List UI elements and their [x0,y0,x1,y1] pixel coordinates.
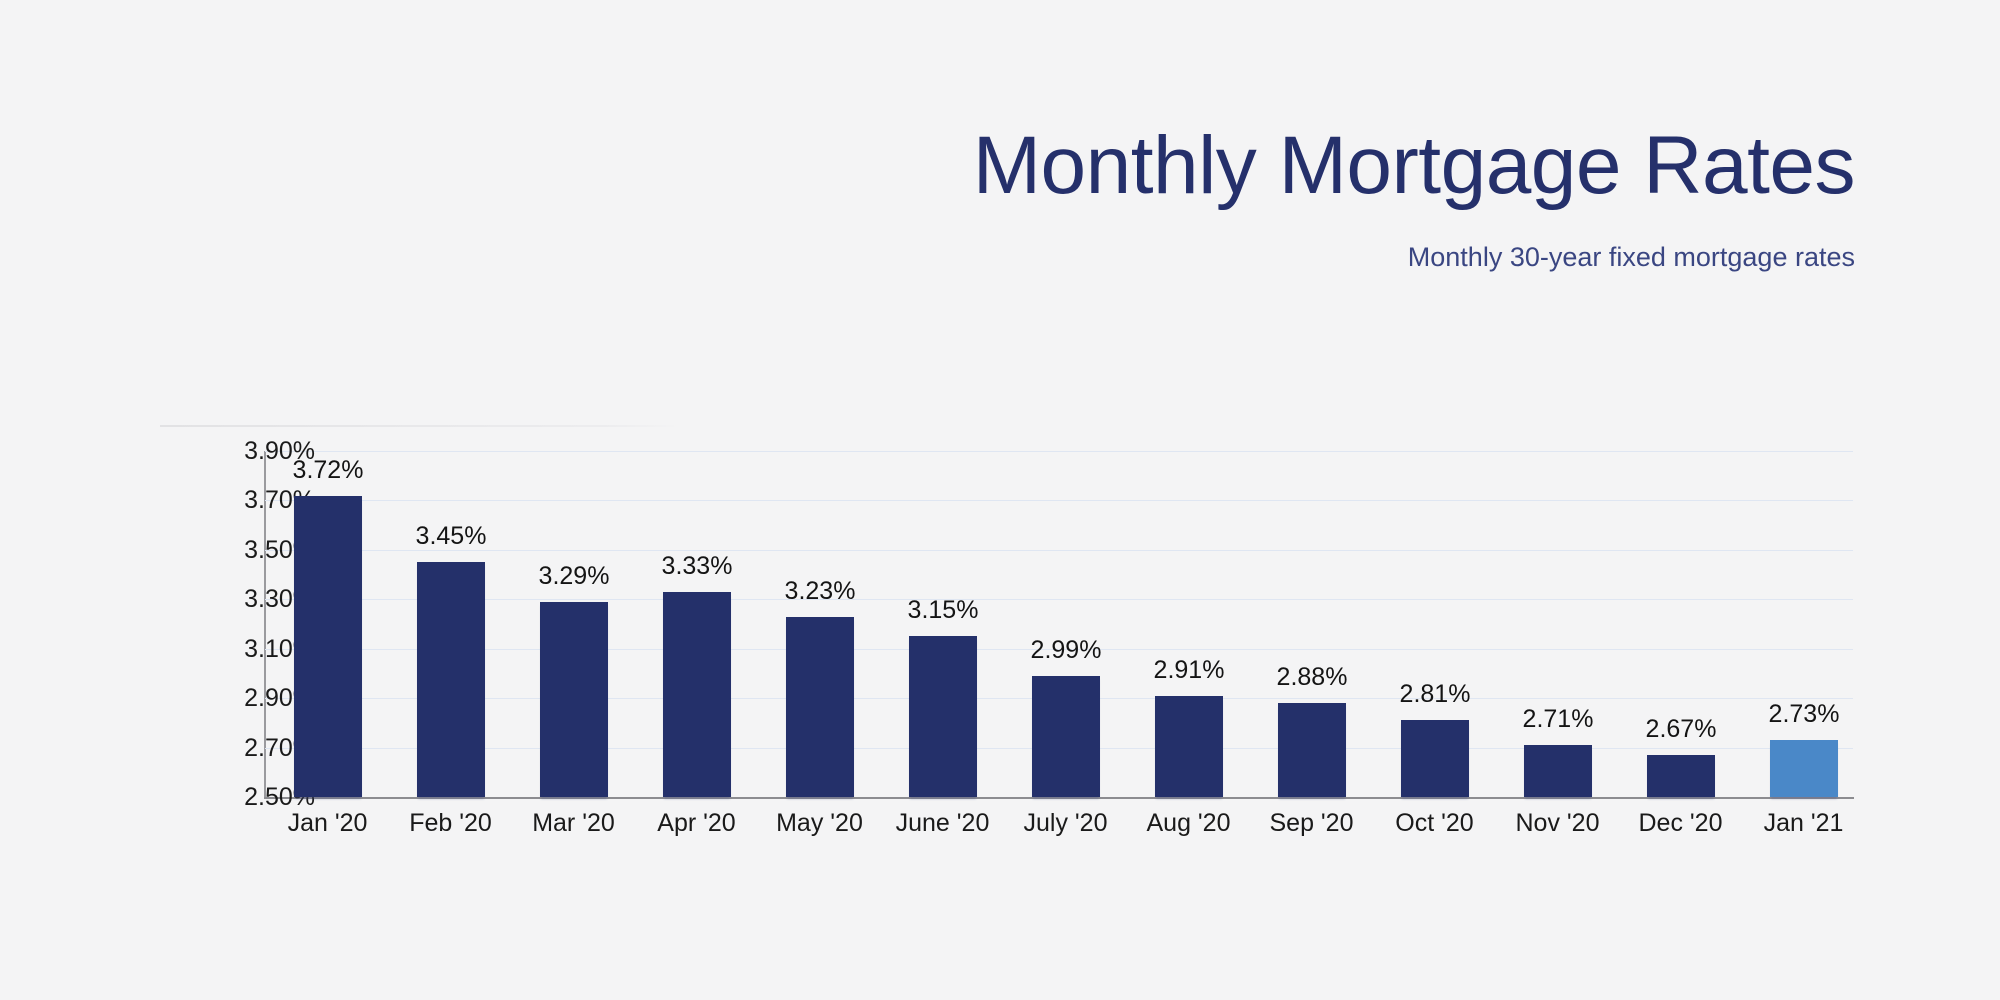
x-axis-tick-label: June '20 [881,808,1004,838]
bar[interactable]: 3.23% [786,617,854,797]
bar[interactable]: 3.33% [663,592,731,797]
page-title: Monthly Mortgage Rates [0,118,1855,214]
bar[interactable]: 2.73% [1770,740,1838,797]
x-axis-tick-label: Jan '20 [266,808,389,838]
bar-slot: 3.29% [512,451,635,797]
bar-value-label: 3.45% [390,524,512,549]
bar-slot: 3.15% [881,451,1004,797]
x-axis-tick-label: Mar '20 [512,808,635,838]
x-axis-tick-label: May '20 [758,808,881,838]
bar-slot: 2.88% [1250,451,1373,797]
bar-slot: 2.67% [1619,451,1742,797]
bar[interactable]: 3.29% [540,602,608,797]
bar-value-label: 3.72% [267,458,389,483]
bar-value-label: 2.88% [1251,665,1373,690]
x-axis-tick-label: Oct '20 [1373,808,1496,838]
bar-slot: 3.33% [635,451,758,797]
x-axis-tick-label: Nov '20 [1496,808,1619,838]
bar[interactable]: 3.45% [417,562,485,797]
bar[interactable]: 2.88% [1278,703,1346,797]
bar-slot: 2.91% [1127,451,1250,797]
bar-slot: 2.99% [1004,451,1127,797]
x-axis-tick-label: Apr '20 [635,808,758,838]
chart-canvas: Monthly Mortgage Rates Monthly 30-year f… [0,0,2000,1000]
bar-value-label: 2.99% [1005,638,1127,663]
x-axis-tick-label: Feb '20 [389,808,512,838]
bar-value-label: 2.81% [1374,682,1496,707]
bar[interactable]: 2.67% [1647,755,1715,797]
bar-value-label: 2.67% [1620,717,1742,742]
bar[interactable]: 3.15% [909,636,977,797]
x-axis-tick-label: Aug '20 [1127,808,1250,838]
bar-value-label: 2.73% [1743,702,1865,727]
plot-area: 3.90%3.70%3.50%3.30%3.10%2.90%2.70%2.50%… [160,440,1860,820]
bar-slot: 3.72% [266,451,389,797]
bar-value-label: 3.15% [882,598,1004,623]
bar-slot: 2.81% [1373,451,1496,797]
x-axis-tick-label: Dec '20 [1619,808,1742,838]
bar-slot: 3.23% [758,451,881,797]
x-axis-tick-label: July '20 [1004,808,1127,838]
bar-slot: 2.73% [1742,451,1865,797]
bar[interactable]: 2.91% [1155,696,1223,797]
bar[interactable]: 2.71% [1524,745,1592,797]
header-divider [160,425,680,427]
x-axis-tick-label: Jan '21 [1742,808,1865,838]
bar[interactable]: 3.72% [294,496,362,798]
bar-value-label: 3.23% [759,579,881,604]
bar[interactable]: 2.99% [1032,676,1100,797]
chart-subtitle: Monthly 30-year fixed mortgage rates [0,240,1855,274]
bar-slot: 2.71% [1496,451,1619,797]
x-axis-line [264,797,1854,799]
x-axis-tick-label: Sep '20 [1250,808,1373,838]
bar-slot: 3.45% [389,451,512,797]
bar-value-label: 3.29% [513,564,635,589]
bar[interactable]: 2.81% [1401,720,1469,797]
bar-value-label: 2.71% [1497,707,1619,732]
bar-value-label: 2.91% [1128,658,1250,683]
bar-value-label: 3.33% [636,554,758,579]
